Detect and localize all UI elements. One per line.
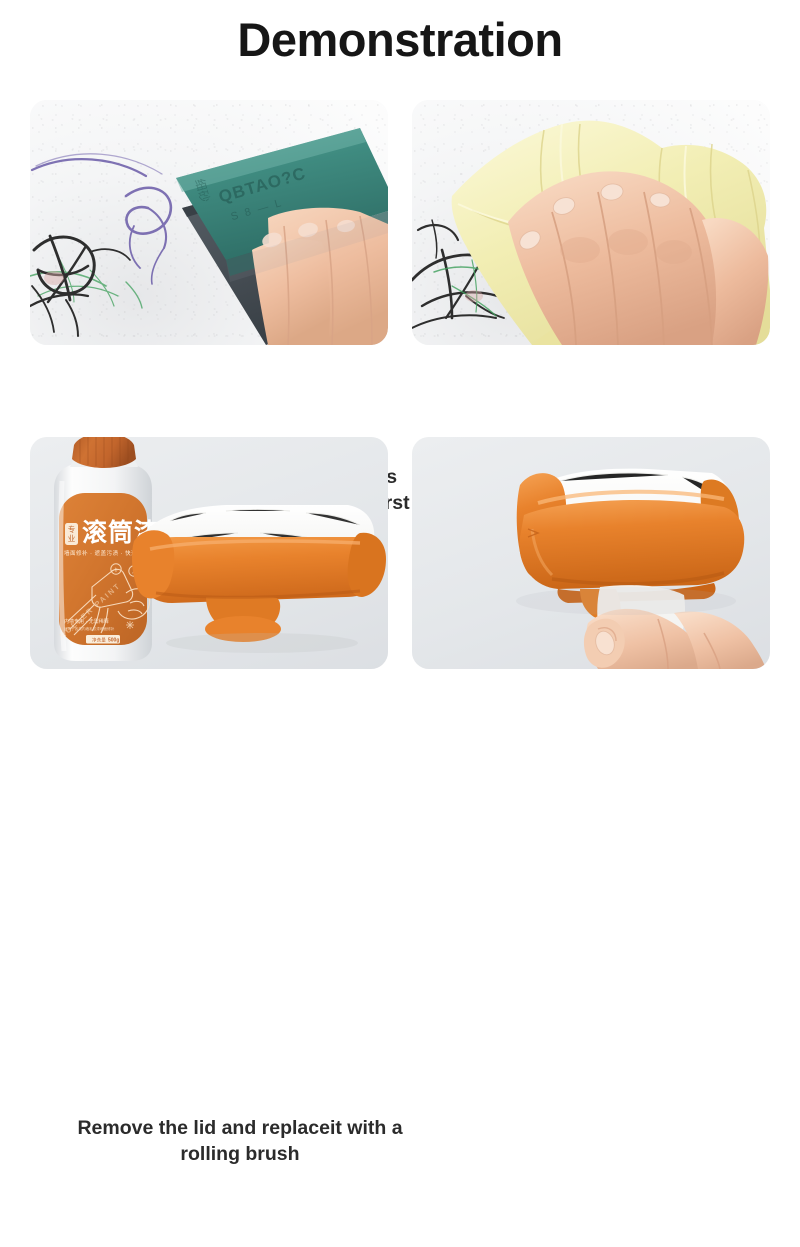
svg-text:b: b [115,568,118,574]
sanding-scene-illustration: QBTAO?C S 8 — L 细砂 [30,100,388,345]
svg-text:业: 业 [68,533,76,543]
svg-text:500g: 500g [108,638,119,644]
svg-text:内墙专用 · 无需稀释: 内墙专用 · 无需稀释 [64,618,109,625]
photo-sanding-sponge-on-graffiti-wall: QBTAO?C S 8 — L 细砂 [30,100,388,345]
photo-orange-roller-applicator-held-by-hand [412,437,770,669]
caption-replace-lid: Remove the lid and replaceit with a roll… [52,1115,428,1168]
photo-wiping-wall-with-yellow-cloth [412,100,770,345]
step-panel-keep-dry: Keep dry and wall protected [412,100,770,345]
bottle-and-roller-illustration: 专 业 滚筒漆 墙面修补 · 遮盖污渍 · 快速干燥 · 环保无味 [30,437,388,669]
page-title: Demonstration [0,14,800,66]
step-panel-roll-wall: Roll the head down, and squeeze the bott… [412,437,770,669]
step-panel-polish-wall: QBTAO?C S 8 — L 细砂 [30,100,388,345]
step-panel-replace-lid: 专 业 滚筒漆 墙面修补 · 遮盖污渍 · 快速干燥 · 环保无味 [30,437,388,669]
svg-text:专: 专 [68,524,76,534]
svg-text:净含量: 净含量 [92,636,106,643]
photo-paint-bottle-with-roller-head: 专 业 滚筒漆 墙面修补 · 遮盖污渍 · 快速干燥 · 环保无味 [30,437,388,669]
demonstration-page: Demonstration [0,0,800,800]
svg-text:适用于各类内墙乳胶漆墙面修补: 适用于各类内墙乳胶漆墙面修补 [64,626,115,631]
wiping-scene-illustration [412,100,770,345]
roller-in-hand-illustration [412,437,770,669]
